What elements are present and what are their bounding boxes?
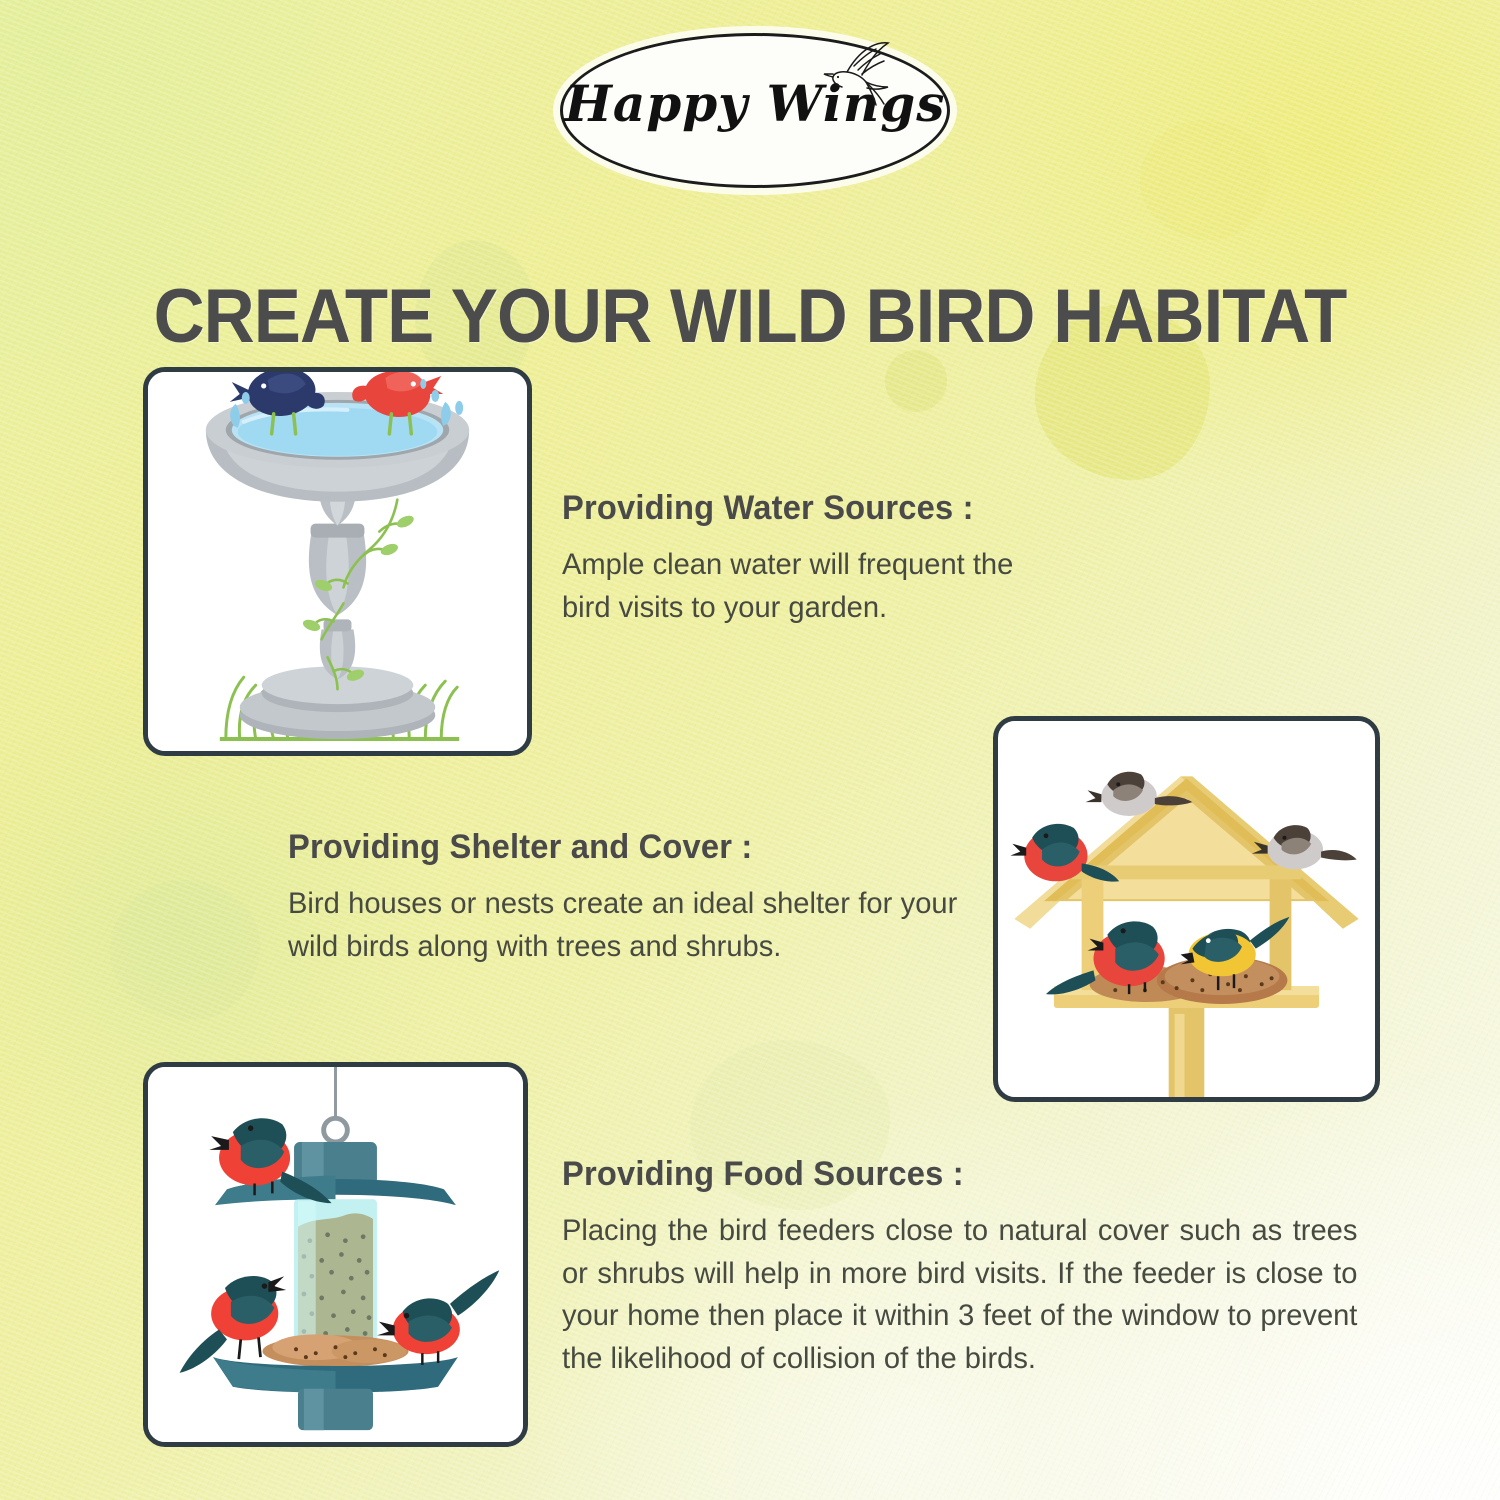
water-sources-body: Ample clean water will frequent the bird… bbox=[562, 544, 1047, 629]
bird-bath-illustration bbox=[148, 372, 527, 751]
bird-bath-image-card bbox=[143, 367, 532, 756]
tube-feeder-image-card bbox=[143, 1062, 528, 1447]
shelter-cover-text-block: Providing Shelter and Cover : Bird house… bbox=[288, 828, 978, 968]
water-sources-text-block: Providing Water Sources : Ample clean wa… bbox=[562, 489, 1062, 629]
brand-logo: Happy Wings bbox=[560, 33, 950, 188]
shelter-cover-heading: Providing Shelter and Cover : bbox=[288, 828, 950, 867]
hummingbird-icon bbox=[822, 41, 914, 111]
bird-house-feeder-illustration bbox=[998, 721, 1375, 1097]
food-sources-body: Placing the bird feeders close to natura… bbox=[562, 1210, 1357, 1380]
page-title: CREATE YOUR WILD BIRD HABITAT bbox=[53, 273, 1448, 360]
shelter-cover-body: Bird houses or nests create an ideal she… bbox=[288, 883, 957, 968]
water-sources-heading: Providing Water Sources : bbox=[562, 489, 1042, 528]
bird-house-image-card bbox=[993, 716, 1380, 1102]
tube-bird-feeder-illustration bbox=[148, 1067, 523, 1442]
food-sources-text-block: Providing Food Sources : Placing the bir… bbox=[562, 1155, 1382, 1380]
food-sources-heading: Providing Food Sources : bbox=[562, 1155, 1349, 1194]
